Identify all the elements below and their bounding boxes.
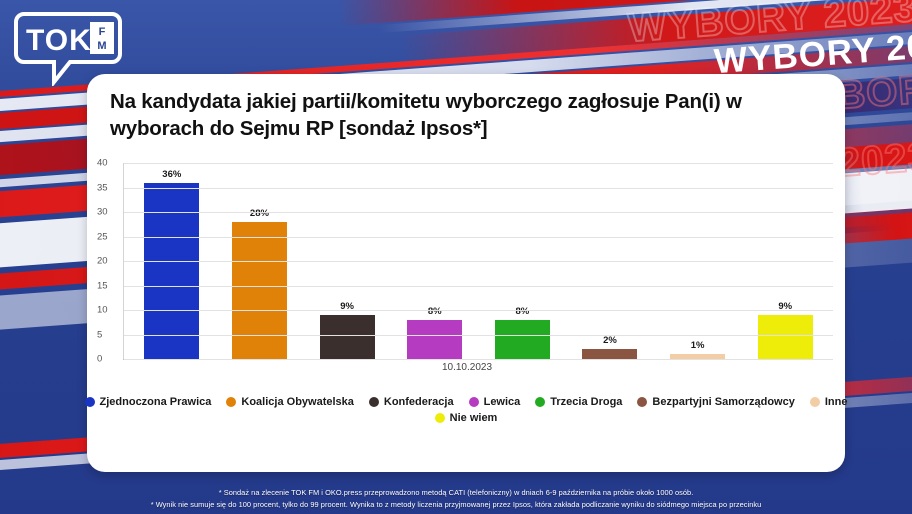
- chart-bar[interactable]: [407, 320, 462, 359]
- chart-bar[interactable]: [232, 222, 287, 359]
- chart-bar-value-label: 28%: [229, 208, 289, 219]
- chart-gridline: [124, 163, 833, 164]
- chart-bar-value-label: 8%: [405, 306, 465, 317]
- legend-swatch-icon: [226, 397, 236, 407]
- chart-y-tick-label: 15: [97, 280, 121, 291]
- legend-item[interactable]: Nie wiem: [435, 412, 498, 424]
- chart-gridline: [124, 335, 833, 336]
- chart-legend: Zjednoczona PrawicaKoalicja ObywatelskaK…: [99, 396, 833, 424]
- chart-bar[interactable]: [495, 320, 550, 359]
- background-watermark-2023-right: 2023: [836, 135, 912, 187]
- chart-gridline: [124, 286, 833, 287]
- legend-swatch-icon: [435, 413, 445, 423]
- legend-item[interactable]: Lewica: [469, 396, 521, 408]
- chart-bar-value-label: 8%: [492, 306, 552, 317]
- legend-item[interactable]: Inne: [810, 396, 848, 408]
- chart-bar[interactable]: [582, 349, 637, 359]
- chart-y-tick-label: 10: [97, 305, 121, 316]
- legend-item[interactable]: Bezpartyjni Samorządowcy: [637, 396, 794, 408]
- chart-gridline: [124, 261, 833, 262]
- chart-gridline: [124, 237, 833, 238]
- legend-swatch-icon: [469, 397, 479, 407]
- legend-swatch-icon: [810, 397, 820, 407]
- svg-text:M: M: [97, 40, 106, 52]
- legend-swatch-icon: [535, 397, 545, 407]
- legend-item-label: Bezpartyjni Samorządowcy: [652, 396, 794, 408]
- chart-bar-value-label: 2%: [580, 335, 640, 346]
- chart-bar-value-label: 1%: [668, 340, 728, 351]
- chart-y-tick-label: 30: [97, 207, 121, 218]
- chart-gridline: [124, 310, 833, 311]
- chart-y-tick-label: 5: [97, 329, 121, 340]
- legend-row: Zjednoczona PrawicaKoalicja ObywatelskaK…: [99, 396, 833, 408]
- chart-bar[interactable]: [320, 315, 375, 359]
- legend-swatch-icon: [85, 397, 95, 407]
- footnotes: * Sondaż na zlecenie TOK FM i OKO.press …: [0, 487, 912, 511]
- screenshot-root: WYBORY 2023 WYBORY 2023 WYBORY 2023 TOK …: [0, 0, 912, 514]
- footnote-2: * Wynik nie sumuje się do 100 procent, t…: [0, 499, 912, 511]
- legend-item-label: Lewica: [484, 396, 521, 408]
- chart-plot-area: 36%28%9%8%8%2%1%9%: [123, 163, 833, 360]
- bar-chart: 36%28%9%8%8%2%1%9% 0510152025303540 10.1…: [97, 156, 837, 386]
- legend-item-label: Inne: [825, 396, 848, 408]
- legend-row: Nie wiem: [99, 412, 833, 424]
- legend-item-label: Nie wiem: [450, 412, 498, 424]
- legend-item-label: Zjednoczona Prawica: [100, 396, 212, 408]
- chart-y-tick-label: 40: [97, 158, 121, 169]
- tokfm-logo[interactable]: TOK F M: [14, 8, 122, 86]
- legend-item[interactable]: Trzecia Droga: [535, 396, 622, 408]
- chart-x-axis-label: 10.10.2023: [97, 362, 837, 373]
- chart-bar[interactable]: [144, 183, 199, 359]
- legend-swatch-icon: [369, 397, 379, 407]
- legend-item-label: Konfederacja: [384, 396, 454, 408]
- legend-item[interactable]: Konfederacja: [369, 396, 454, 408]
- chart-y-tick-label: 20: [97, 256, 121, 267]
- legend-swatch-icon: [637, 397, 647, 407]
- svg-text:TOK: TOK: [26, 24, 92, 57]
- chart-y-tick-label: 35: [97, 182, 121, 193]
- chart-card: Na kandydata jakiej partii/komitetu wybo…: [87, 74, 845, 472]
- chart-bar[interactable]: [758, 315, 813, 359]
- chart-gridline: [124, 359, 833, 360]
- svg-text:F: F: [99, 26, 106, 38]
- chart-gridline: [124, 212, 833, 213]
- footnote-1: * Sondaż na zlecenie TOK FM i OKO.press …: [0, 487, 912, 499]
- chart-bar-value-label: 36%: [142, 169, 202, 180]
- legend-item[interactable]: Zjednoczona Prawica: [85, 396, 212, 408]
- legend-item[interactable]: Koalicja Obywatelska: [226, 396, 354, 408]
- chart-gridline: [124, 188, 833, 189]
- legend-item-label: Trzecia Droga: [550, 396, 622, 408]
- page-title: Na kandydata jakiej partii/komitetu wybo…: [110, 88, 810, 143]
- legend-item-label: Koalicja Obywatelska: [241, 396, 354, 408]
- chart-y-tick-label: 25: [97, 231, 121, 242]
